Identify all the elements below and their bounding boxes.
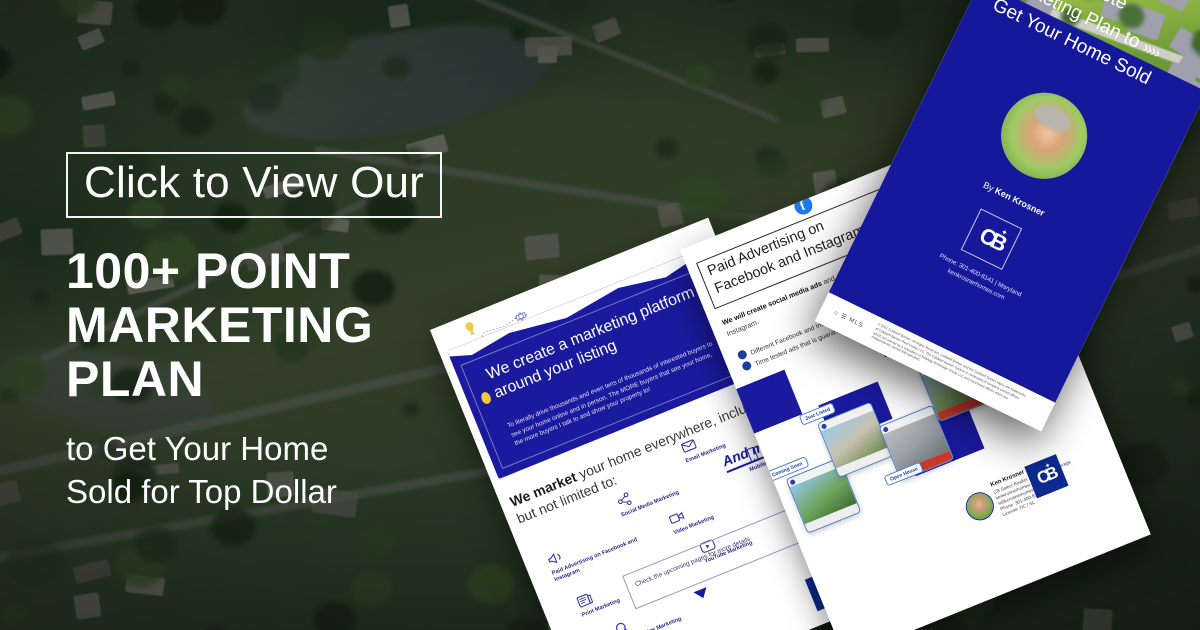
subtitle-line-1: to Get Your Home [66, 430, 328, 467]
avatar [962, 488, 998, 524]
facebook-bullet-icon [736, 349, 748, 361]
subtitle-line-2: Sold for Top Dollar [66, 471, 496, 514]
clock-bullet-icon [741, 360, 753, 372]
page-title: 100+ POINT MARKETING PLAN [66, 244, 496, 406]
click-to-view-button[interactable]: Click to View Our [66, 152, 442, 218]
channel-label: Search Engine Marketing [618, 602, 717, 630]
title-line-2: MARKETING PLAN [66, 298, 496, 406]
magnifier-icon [611, 617, 633, 630]
equal-housing-icons: ⌂ ☰ MLS [833, 309, 865, 329]
cta-label: Click to View Our [84, 158, 424, 207]
page-subtitle: to Get Your Home Sold for Top Dollar [66, 428, 496, 514]
avatar [882, 426, 889, 433]
avatar [789, 479, 796, 486]
avatar [821, 423, 828, 430]
title-line-1: 100+ POINT [66, 243, 350, 299]
promo-banner: Click to View Our 100+ POINT MARKETING P… [0, 0, 1200, 630]
chevrons-right-icon: ›››› [1140, 39, 1163, 62]
